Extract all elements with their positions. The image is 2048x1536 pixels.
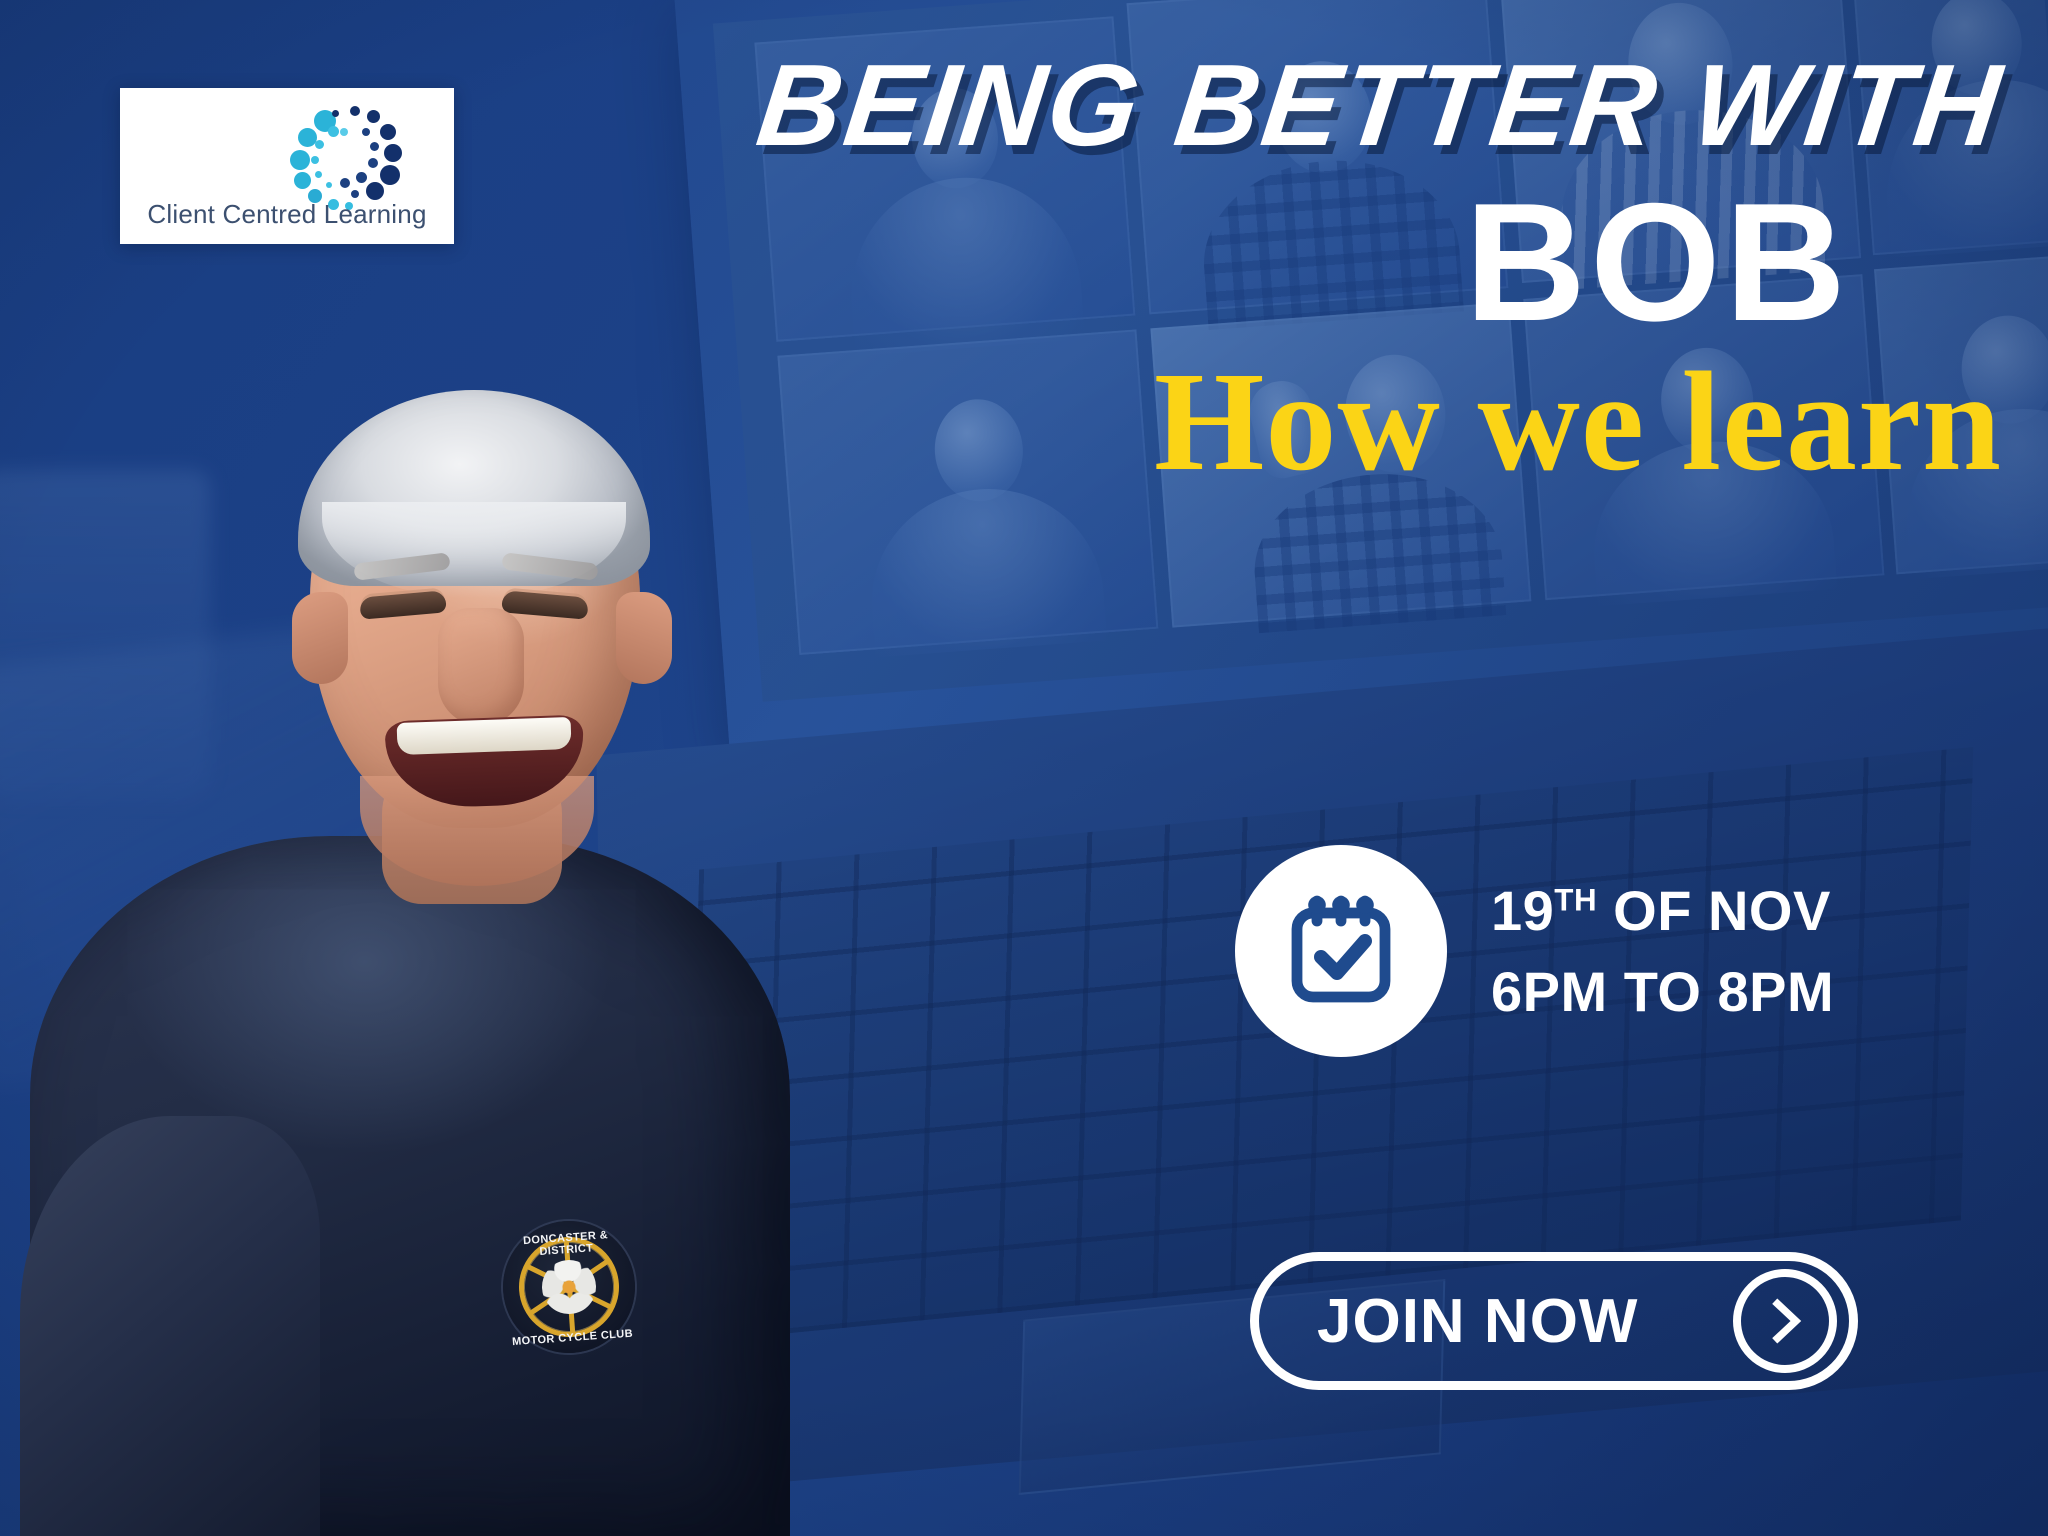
motorcycle-club-badge: DONCASTER & DISTRICT MOTOR CYCLE CLUB bbox=[499, 1217, 640, 1358]
headline-line-2-bob: BOB bbox=[560, 178, 2020, 346]
client-centred-learning-logo-icon bbox=[288, 102, 400, 214]
join-now-label: JOIN NOW bbox=[1317, 1286, 1638, 1357]
left-arm bbox=[20, 1116, 320, 1536]
ear-right bbox=[616, 592, 672, 684]
chevron-right-icon[interactable] bbox=[1733, 1269, 1837, 1373]
logo-wordmark: Client Centred Learning bbox=[120, 199, 454, 230]
calendar-check-icon bbox=[1235, 845, 1447, 1057]
event-time: 6PM TO 8PM bbox=[1491, 951, 1834, 1032]
promo-poster: DONCASTER & DISTRICT MOTOR CYCLE CLUB bbox=[0, 0, 2048, 1536]
event-datetime-block: 19TH OF NOV 6PM TO 8PM bbox=[1235, 845, 1834, 1057]
event-date-month: OF NOV bbox=[1597, 879, 1831, 942]
headline-line-1: BEING BETTER WITH bbox=[553, 46, 2028, 164]
event-date-ordinal: TH bbox=[1554, 882, 1597, 917]
nose bbox=[438, 608, 524, 726]
teeth bbox=[397, 717, 572, 755]
brand-logo-card: Client Centred Learning bbox=[120, 88, 454, 244]
ear-left bbox=[292, 592, 348, 684]
event-datetime-text: 19TH OF NOV 6PM TO 8PM bbox=[1491, 870, 1834, 1032]
event-date: 19TH OF NOV bbox=[1491, 870, 1834, 951]
speaker-portrait: DONCASTER & DISTRICT MOTOR CYCLE CLUB bbox=[30, 356, 790, 1536]
headline-block: BEING BETTER WITH BOB How we learn bbox=[560, 46, 2020, 492]
join-now-button[interactable]: JOIN NOW bbox=[1250, 1252, 1858, 1390]
event-date-day: 19 bbox=[1491, 879, 1554, 942]
headline-line-3-subtitle: How we learn bbox=[560, 350, 2020, 492]
